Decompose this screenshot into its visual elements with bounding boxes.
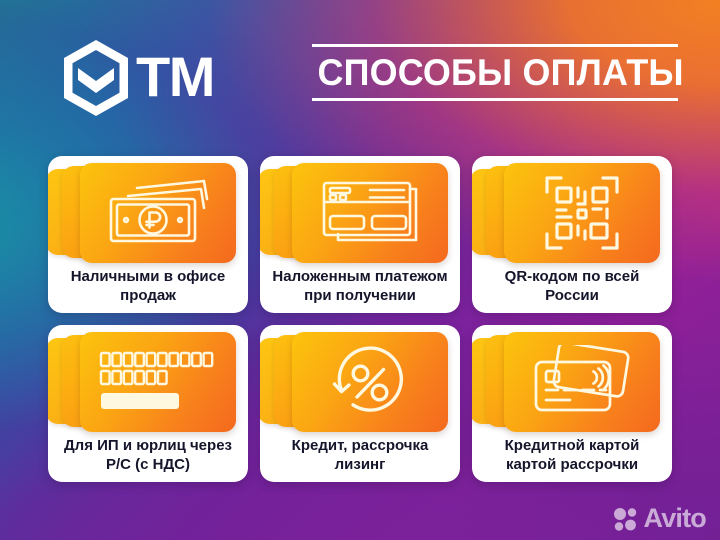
qr-code-icon xyxy=(544,175,620,251)
tile-front xyxy=(504,163,660,263)
credit-cards-contactless-icon xyxy=(532,345,632,419)
icon-tile-stack xyxy=(60,163,236,263)
payment-method-label: QR-кодом по всей России xyxy=(472,263,672,313)
poster-title-block: СПОСОБЫ ОПЛАТЫ xyxy=(312,44,678,101)
tile-front xyxy=(80,332,236,432)
banknotes-ruble-icon xyxy=(106,179,210,247)
payment-method-label: Наложенным платежом при получении xyxy=(260,263,460,313)
avito-dots-icon xyxy=(613,506,639,532)
title-rule-top xyxy=(312,44,678,47)
payment-method-card[interactable]: Кредит, рассрочка лизинг xyxy=(260,325,460,482)
payment-method-card[interactable]: Кредитной картой картой рассрочки xyxy=(472,325,672,482)
poster-header: TM СПОСОБЫ ОПЛАТЫ xyxy=(0,0,720,140)
hexagon-check-logo-icon xyxy=(60,38,132,118)
payment-method-card[interactable]: Наложенным платежом при получении xyxy=(260,156,460,313)
tile-front xyxy=(292,163,448,263)
payment-method-card[interactable]: QR-кодом по всей России xyxy=(472,156,672,313)
page-title: СПОСОБЫ ОПЛАТЫ xyxy=(317,51,672,95)
avito-wordmark: Avito xyxy=(644,505,707,532)
payment-method-card[interactable]: Наличными в офисе продаж xyxy=(48,156,248,313)
icon-tile-stack xyxy=(484,332,660,432)
payment-method-label: Наличными в офисе продаж xyxy=(48,263,248,313)
tile-front xyxy=(292,332,448,432)
invoice-document-icon xyxy=(320,178,420,248)
icon-tile-stack xyxy=(484,163,660,263)
tile-front xyxy=(504,332,660,432)
icon-tile-stack xyxy=(272,332,448,432)
payment-methods-grid: Наличными в офисе продаж xyxy=(48,156,672,482)
payment-method-card[interactable]: Для ИП и юрлиц через Р/С (с НДС) xyxy=(48,325,248,482)
account-number-boxes-icon xyxy=(99,350,217,414)
brand-logo-text: TM xyxy=(136,49,214,105)
payment-methods-poster: TM СПОСОБЫ ОПЛАТЫ xyxy=(0,0,720,540)
avito-watermark: Avito xyxy=(613,505,707,532)
title-rule-bottom xyxy=(312,98,678,101)
percent-refresh-icon xyxy=(331,343,409,421)
icon-tile-stack xyxy=(272,163,448,263)
tile-front xyxy=(80,163,236,263)
payment-method-label: Кредит, рассрочка лизинг xyxy=(260,432,460,482)
icon-tile-stack xyxy=(60,332,236,432)
payment-method-label: Кредитной картой картой рассрочки xyxy=(472,432,672,482)
brand-logo: TM xyxy=(60,38,214,118)
payment-method-label: Для ИП и юрлиц через Р/С (с НДС) xyxy=(48,432,248,482)
